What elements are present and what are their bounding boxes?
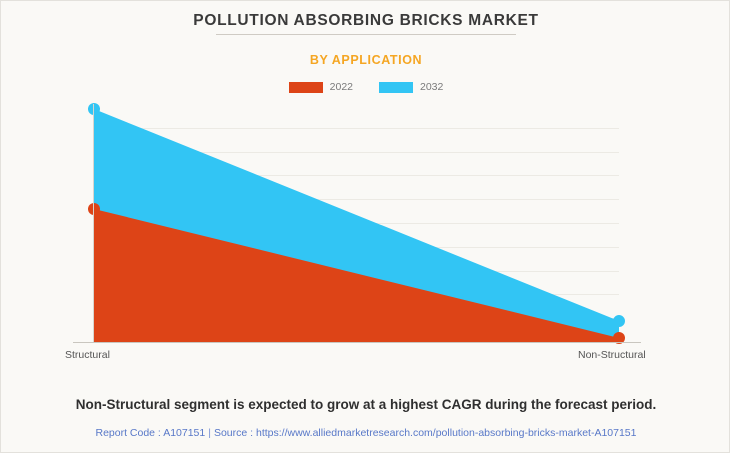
title-divider xyxy=(216,34,516,35)
legend-label-2022: 2022 xyxy=(330,81,353,93)
chart-legend: 2022 2032 xyxy=(1,81,730,93)
legend-swatch-2022 xyxy=(289,82,323,93)
y-axis-line xyxy=(93,104,94,343)
x-axis-line xyxy=(73,342,641,343)
source-url[interactable]: Source : https://www.alliedmarketresearc… xyxy=(214,427,637,439)
report-code: Report Code : A107151 xyxy=(95,427,205,439)
chart-subtitle: BY APPLICATION xyxy=(1,53,730,67)
data-point-2022-structural[interactable] xyxy=(88,203,100,215)
source-footer: Report Code : A107151|Source : https://w… xyxy=(1,427,730,439)
x-axis-tick-non-structural: Non-Structural xyxy=(578,349,646,361)
chart-caption: Non-Structural segment is expected to gr… xyxy=(1,397,730,412)
legend-item-2032[interactable]: 2032 xyxy=(379,81,443,93)
plot-area xyxy=(94,104,619,342)
footer-separator: | xyxy=(205,427,214,439)
data-point-2032-structural[interactable] xyxy=(88,103,100,115)
legend-item-2022[interactable]: 2022 xyxy=(289,81,353,93)
chart-card: POLLUTION ABSORBING BRICKS MARKET BY APP… xyxy=(0,0,730,453)
page-title: POLLUTION ABSORBING BRICKS MARKET xyxy=(1,12,730,30)
x-axis-tick-structural: Structural xyxy=(65,349,110,361)
legend-swatch-2032 xyxy=(379,82,413,93)
data-point-2032-non-structural[interactable] xyxy=(613,315,625,327)
legend-label-2032: 2032 xyxy=(420,81,443,93)
series-svg xyxy=(94,104,619,342)
